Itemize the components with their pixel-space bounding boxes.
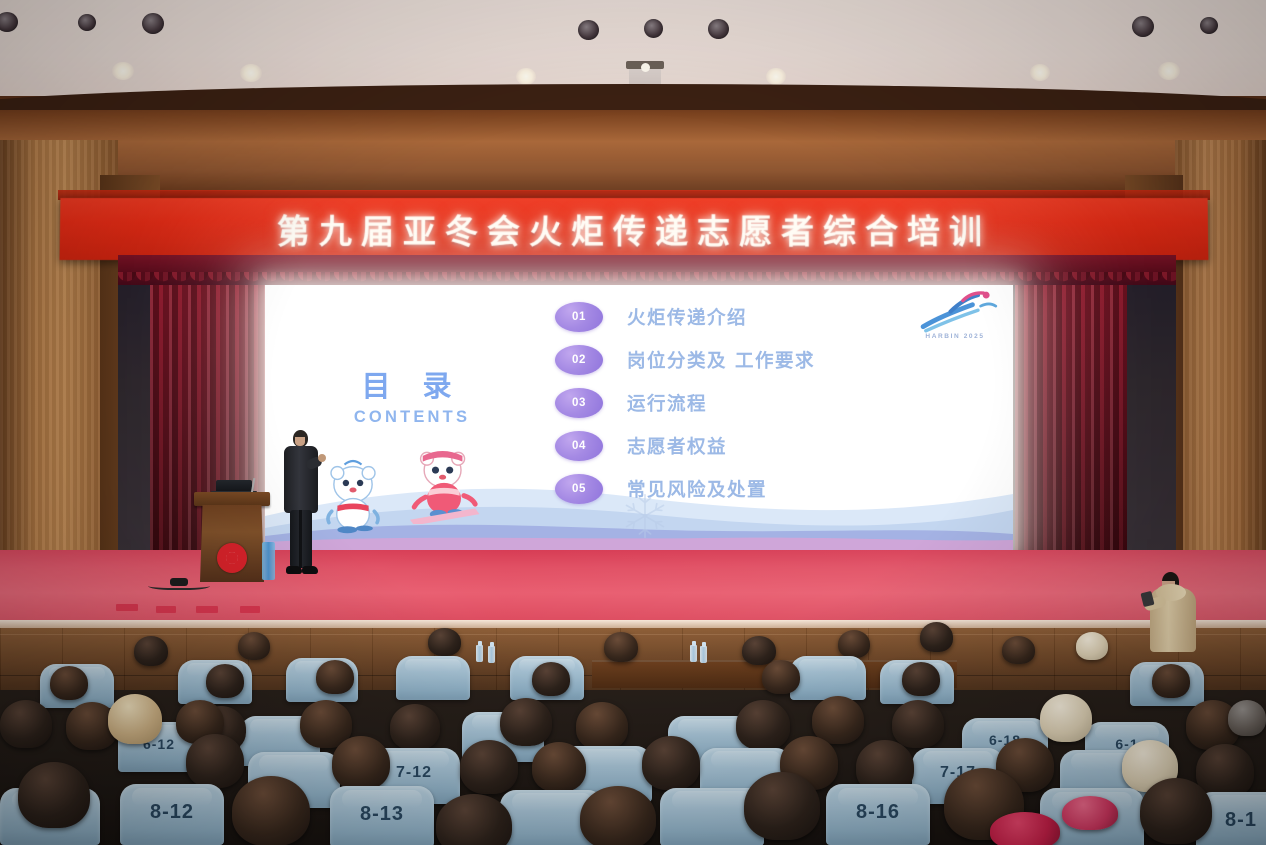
attendee-head <box>428 628 461 656</box>
stage-floor-marker <box>240 606 260 613</box>
seat: 8-12 <box>120 784 224 845</box>
attendee-head <box>920 622 953 652</box>
attendee-head <box>532 662 570 696</box>
attendee-head <box>1228 700 1266 736</box>
seat-number: 8-16 <box>826 801 930 824</box>
attendee-head <box>1196 744 1254 798</box>
attendee-head <box>902 662 940 696</box>
harbin-2025-emblem-icon <box>913 291 999 339</box>
stage-floor-marker <box>196 606 218 613</box>
emblem-caption: HARBIN 2025 <box>913 333 997 340</box>
agenda-item-label: 运行流程 <box>627 390 707 416</box>
attendee-head <box>460 740 518 794</box>
water-bottle <box>690 645 697 662</box>
water-bottle <box>476 645 483 662</box>
agenda-item-label: 岗位分类及 工作要求 <box>627 347 815 373</box>
agenda-number-badge: 03 <box>555 388 603 418</box>
presenter-face <box>295 437 305 446</box>
agenda-item: 03 运行流程 <box>555 381 985 424</box>
attendee-head <box>390 704 440 750</box>
binbin-mascot-skating-icon <box>317 456 389 534</box>
ceiling-light-glow-icon <box>1158 62 1180 80</box>
attendee-head <box>744 772 820 840</box>
agenda-item: 04 志愿者权益 <box>555 424 985 467</box>
attendee-head <box>580 786 656 845</box>
attendee-head-with-red-hat <box>990 812 1060 845</box>
presenter-legs <box>290 510 312 568</box>
attendee-photographing <box>1146 572 1200 660</box>
attendee-head <box>812 696 864 744</box>
attendee-head <box>238 632 270 660</box>
attendee-head <box>206 664 244 698</box>
seat <box>790 656 866 700</box>
seat: 8-16 <box>826 784 930 845</box>
attendee-head <box>892 700 944 748</box>
attendee-head <box>1002 636 1035 664</box>
contents-title-cn: 目 录 <box>327 363 497 405</box>
water-bottle-beside-lectern <box>262 542 275 580</box>
stage-floor-marker <box>156 606 176 613</box>
attendee-head <box>232 776 310 845</box>
auditorium-photo: 第九届亚冬会火炬传递志愿者综合培训 <box>0 0 1266 845</box>
seat <box>396 656 470 700</box>
lectern-top <box>194 492 270 506</box>
banner-title: 第九届亚冬会火炬传递志愿者综合培训 <box>277 205 991 253</box>
agenda-item: 02 岗位分类及 工作要求 <box>555 338 985 381</box>
attendee-head-with-pink-hat <box>1062 796 1118 830</box>
agenda-number-badge: 02 <box>555 345 603 375</box>
seat-number: 8-12 <box>120 801 224 824</box>
attendee-head <box>0 700 52 748</box>
ceiling-downlight-icon <box>142 13 164 34</box>
ceiling-light-glow-icon <box>516 68 536 85</box>
attendee-head <box>134 636 168 666</box>
attendee-head <box>742 636 776 665</box>
agenda-item: 05 常见风险及处置 <box>555 467 985 510</box>
attendee-head <box>604 632 638 662</box>
attendee-head <box>762 660 800 694</box>
wood-header-beam <box>0 96 1266 191</box>
attendee-head <box>576 702 628 750</box>
attendee-head <box>332 736 390 790</box>
contents-title-en: CONTENTS <box>327 408 497 427</box>
ceiling-light-glow-icon <box>240 64 262 82</box>
lectern <box>200 492 264 582</box>
attendee-head <box>186 734 244 788</box>
attendee-head <box>108 694 162 744</box>
attendee-head <box>316 660 354 694</box>
attendee-head <box>642 736 700 790</box>
ceiling-downlight-icon <box>578 20 599 40</box>
stage-floor-marker <box>116 604 138 611</box>
attendee-head <box>1040 694 1092 742</box>
attendee-head <box>18 762 90 828</box>
seat-number: 8-13 <box>330 803 434 826</box>
agenda-item-label: 火炬传递介绍 <box>627 304 747 330</box>
water-bottle <box>700 646 707 663</box>
attendee-head <box>50 666 88 700</box>
ceiling-downlight-icon <box>1200 17 1218 34</box>
seat: 8-13 <box>330 786 434 845</box>
projection-screen: 目 录 CONTENTS 01 火炬传递介绍 02 岗位分类及 工作要求 03 … <box>265 285 1013 552</box>
agenda-item-label: 志愿者权益 <box>627 433 727 459</box>
attendee-head <box>736 700 790 750</box>
floor-mic-base <box>170 578 188 586</box>
ceiling-downlight-icon <box>78 14 96 31</box>
ceiling-light-glow-icon <box>112 62 134 80</box>
attendee-head <box>1076 632 1108 660</box>
presenter <box>282 430 320 578</box>
presenter-shoe <box>286 566 302 574</box>
lectern-emblem-icon <box>217 543 247 573</box>
agenda-item-label: 常见风险及处置 <box>627 476 767 502</box>
ceiling-downlight-icon <box>644 19 663 38</box>
agenda-number-badge: 05 <box>555 474 603 504</box>
nini-mascot-snowboarding-icon <box>401 446 487 524</box>
attendee-head <box>500 698 552 746</box>
presenter-jacket <box>284 446 318 513</box>
presenter-hand <box>318 454 326 462</box>
slide-contents-heading: 目 录 CONTENTS <box>327 363 497 427</box>
agenda-number-badge: 04 <box>555 431 603 461</box>
agenda-number-badge: 01 <box>555 302 603 332</box>
event-banner: 第九届亚冬会火炬传递志愿者综合培训 <box>60 198 1209 260</box>
lectern-body <box>200 505 264 582</box>
attendee-head <box>838 630 870 658</box>
ceiling-light-glow-icon <box>1030 64 1050 81</box>
ceiling-downlight-icon <box>708 19 729 39</box>
attendee-head <box>532 742 586 792</box>
ceiling-downlight-icon <box>1132 16 1154 37</box>
attendee-head <box>1152 664 1190 698</box>
water-bottle <box>488 646 495 663</box>
stage-curtain-right <box>1015 285 1127 575</box>
presenter-shoe <box>302 566 318 574</box>
ceiling-light-glow-icon <box>766 68 786 85</box>
attendee-head <box>1140 778 1212 844</box>
